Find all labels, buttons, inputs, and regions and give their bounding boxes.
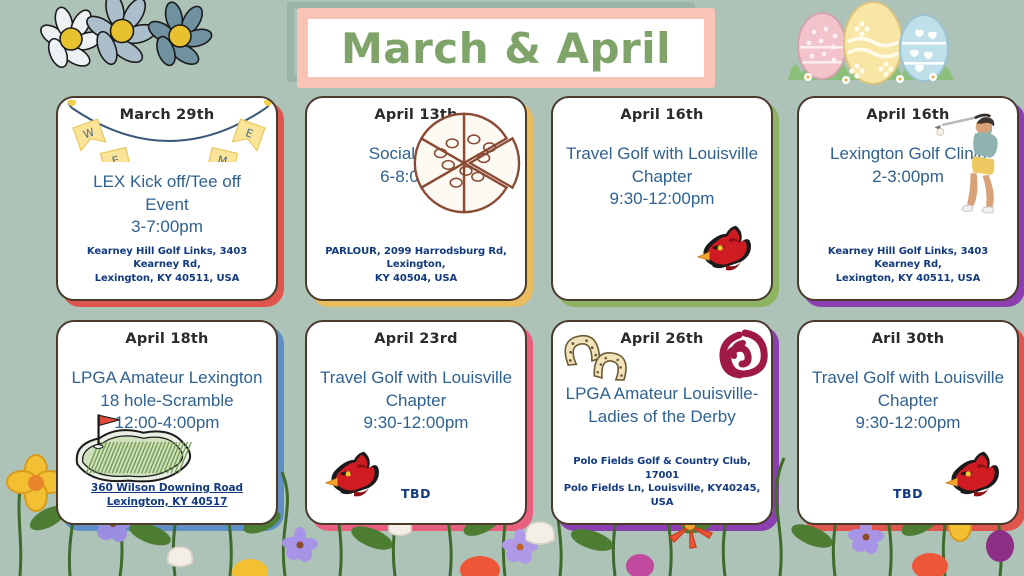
card-date: April 23rd [374,331,457,347]
card-time: 9:30-12:00pm [610,188,715,211]
card-body-text: Lexington Golf Clinic [830,143,986,166]
card-date: April 18th [125,331,208,347]
card-body-text: LEX Kick off/Tee off Event [93,171,241,216]
card-tbd-badge: TBD [401,486,431,501]
title-text: March & April [341,24,671,73]
card-body-text: Social Event [369,143,464,166]
easter-eggs-icon [778,0,968,90]
title-frame: March & April [297,8,715,88]
card-address: Kearney Hill Golf Links, 3403 Kearney Rd… [809,245,1007,286]
card-tbd-badge: TBD [893,486,923,501]
card-time: 9:30-12:00pm [364,412,469,435]
card-content: April 23rdTravel Golf with Louisville Ch… [307,322,525,523]
card-april-30[interactable]: Aril 30thTravel Golf with Louisville Cha… [797,320,1019,525]
card-body-text: Travel Golf with Louisville Chapter [812,367,1004,412]
card-content: Aril 30thTravel Golf with Louisville Cha… [799,322,1017,523]
card-time: 2-3:00pm [872,166,944,189]
card-april-23[interactable]: April 23rdTravel Golf with Louisville Ch… [305,320,527,525]
card-content: April 13thSocial Event6-8:00pmPARLOUR, 2… [307,98,525,299]
card-time: 3-7:00pm [131,216,203,239]
card-body-text: LPGA Amateur Lexington 18 hole-Scramble [72,367,263,412]
svg-text:E: E [244,126,255,141]
card-content: April 16thTravel Golf with Louisville Ch… [553,98,771,299]
card-date: April 26th [620,331,703,347]
card-address: 360 Wilson Downing Road Lexington, KY 40… [91,481,243,509]
card-date: April 16th [866,107,949,123]
daisy-flowers-icon [34,0,224,88]
card-body-text: LPGA Amateur Louisville- Ladies of the D… [566,383,759,428]
card-april-16-clinic[interactable]: April 16thLexington Golf Clinic2-3:00pmK… [797,96,1019,301]
card-content: April 16thLexington Golf Clinic2-3:00pmK… [799,98,1017,299]
card-body-text: Travel Golf with Louisville Chapter [566,143,758,188]
card-content: April 18thLPGA Amateur Lexington 18 hole… [58,322,276,523]
card-date: March 29th [120,107,215,123]
card-time: 12:00-4:00pm [115,412,220,435]
svg-text:E: E [111,154,121,162]
card-body-text: Travel Golf with Louisville Chapter [320,367,512,412]
card-address: Polo Fields Golf & Country Club, 17001 P… [563,455,761,509]
card-april-13[interactable]: April 13thSocial Event6-8:00pmPARLOUR, 2… [305,96,527,301]
card-date: April 16th [620,107,703,123]
card-march-29[interactable]: WELCOMEMarch 29thLEX Kick off/Tee off Ev… [56,96,278,301]
card-content: April 26thLPGA Amateur Louisville- Ladie… [553,322,771,523]
svg-text:M: M [216,153,228,162]
card-april-18[interactable]: April 18thLPGA Amateur Lexington 18 hole… [56,320,278,525]
svg-text:W: W [81,126,96,142]
events-grid: WELCOMEMarch 29thLEX Kick off/Tee off Ev… [0,96,1024,536]
card-time: 6-8:00pm [380,166,452,189]
poster-canvas: March & April WELCOMEMarch 29thLEX Kick … [0,0,1024,576]
card-address: Kearney Hill Golf Links, 3403 Kearney Rd… [68,245,266,286]
card-date: April 13th [374,107,457,123]
card-april-16-travel[interactable]: April 16thTravel Golf with Louisville Ch… [551,96,773,301]
card-date: Aril 30th [872,331,945,347]
card-content: WELCOMEMarch 29thLEX Kick off/Tee off Ev… [58,98,276,299]
card-april-26[interactable]: April 26thLPGA Amateur Louisville- Ladie… [551,320,773,525]
card-time: 9:30-12:00pm [856,412,961,435]
card-address: PARLOUR, 2099 Harrodsburg Rd, Lexington,… [317,245,515,286]
poster-title: March & April [287,2,719,88]
